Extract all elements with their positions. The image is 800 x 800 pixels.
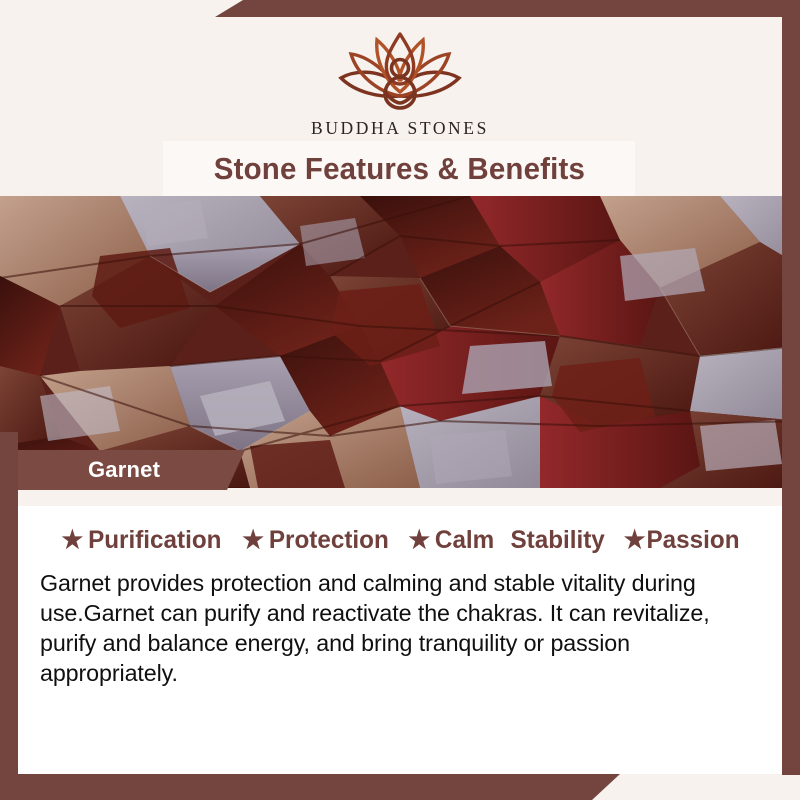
frame-band-right (782, 0, 800, 775)
star-icon: ★ (61, 528, 83, 553)
feature-label: Protection (269, 526, 389, 555)
stone-description: Garnet provides protection and calming a… (40, 568, 759, 688)
feature-label: Calm (435, 526, 494, 555)
brand-name: BUDDHA STONES (0, 118, 800, 139)
content-panel: ★ Purification ★ Protection ★ Calm Stabi… (18, 506, 782, 774)
stone-name: Garnet (88, 457, 160, 483)
feature-item-calm: ★ Calm (408, 526, 494, 555)
star-icon: ★ (242, 528, 264, 553)
stone-name-banner: Garnet (0, 450, 245, 490)
brand-logo: BUDDHA STONES (0, 18, 800, 139)
title-banner: Stone Features & Benefits (163, 141, 635, 196)
star-icon: ★ (408, 528, 430, 553)
feature-label: Purification (88, 526, 221, 555)
feature-item-protection: ★ Protection (242, 526, 389, 555)
page-title: Stone Features & Benefits (213, 151, 584, 187)
feature-label: Passion (646, 526, 739, 555)
feature-label: Stability (510, 526, 604, 555)
feature-item-stability: Stability (510, 526, 604, 555)
feature-list: ★ Purification ★ Protection ★ Calm Stabi… (18, 526, 782, 555)
garnet-crystal-cluster-icon (0, 196, 800, 488)
feature-item-purification: ★ Purification (61, 526, 221, 555)
poster-root: BUDDHA STONES Stone Features & Benefits … (0, 0, 800, 800)
lotus-meditation-figure-icon (315, 18, 485, 116)
feature-item-passion: ★ Passion (624, 526, 740, 555)
frame-band-bottom (0, 774, 620, 800)
star-icon: ★ (624, 528, 646, 553)
stone-photo (0, 196, 800, 488)
frame-band-left (0, 432, 18, 800)
divider-strip (18, 488, 782, 506)
frame-band-top (215, 0, 800, 17)
